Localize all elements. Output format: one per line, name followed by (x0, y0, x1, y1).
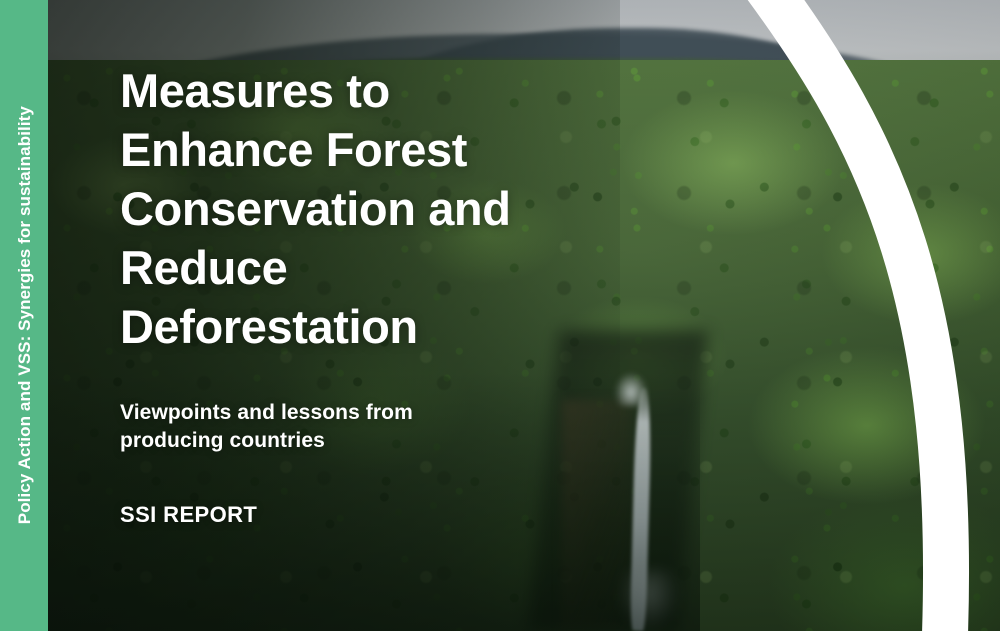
report-cover: Policy Action and VSS: Synergies for sus… (0, 0, 1000, 631)
report-type-label: SSI REPORT (120, 502, 590, 528)
page-subtitle: Viewpoints and lessons from producing co… (120, 399, 520, 456)
page-title: Measures to Enhance Forest Conservation … (120, 62, 590, 357)
series-spine: Policy Action and VSS: Synergies for sus… (0, 0, 48, 631)
waterfall-spray (619, 570, 679, 631)
series-title: Policy Action and VSS: Synergies for sus… (16, 106, 33, 524)
cover-text-block: Measures to Enhance Forest Conservation … (120, 62, 590, 528)
